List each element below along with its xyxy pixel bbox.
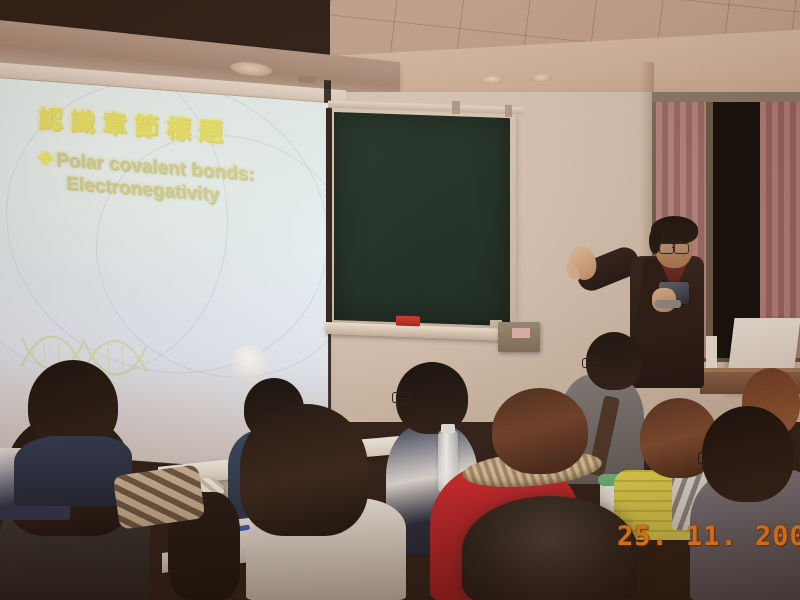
bottle-cap-icon <box>441 424 455 433</box>
rail-clip-icon <box>452 101 460 114</box>
glasses-icon <box>674 243 689 254</box>
screen-housing-knob <box>298 75 316 83</box>
downlight-icon <box>230 60 272 77</box>
classroom-photograph: 認識章節標題 Polar covalent bonds: Electronega… <box>0 0 800 600</box>
student-head <box>492 388 588 474</box>
glasses-bridge <box>672 247 675 248</box>
camera-timestamp: 25. 11. 2009 <box>617 521 800 552</box>
glasses-icon <box>698 452 718 464</box>
chalkboard-left-edge <box>326 108 332 326</box>
glasses-icon <box>659 243 674 254</box>
glasses-icon <box>392 392 410 403</box>
chalkboard <box>334 112 510 326</box>
rail-clip-icon <box>505 105 512 117</box>
curtain-rail <box>652 92 800 102</box>
chalkboard-eraser <box>396 316 420 327</box>
downlight-icon <box>480 74 504 84</box>
diamond-bullet-icon <box>37 151 54 165</box>
window-mullion <box>706 98 713 360</box>
downlight-icon <box>530 73 552 83</box>
presenter-cuff <box>655 300 681 308</box>
control-panel-label <box>512 328 530 338</box>
glasses-icon <box>582 358 599 368</box>
